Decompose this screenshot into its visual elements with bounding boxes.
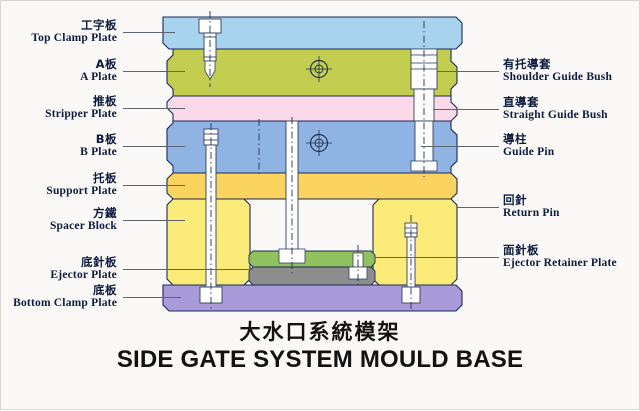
label-return-pin: 回針 Return Pin [503, 194, 560, 220]
leader-b-plate [123, 146, 185, 147]
label-shoulder-guide-bush-en: Shoulder Guide Bush [503, 71, 612, 84]
label-straight-guide-bush-en: Straight Guide Bush [503, 109, 608, 122]
leader-guide-pin [421, 146, 499, 147]
leader-ejector-plate [123, 269, 253, 270]
label-stripper-plate-en: Stripper Plate [45, 108, 117, 121]
label-spacer-block-en: Spacer Block [50, 220, 117, 233]
label-bottom-clamp-plate-cn: 底板 [13, 284, 117, 297]
label-spacer-block: 方鐵 Spacer Block [50, 207, 117, 233]
label-a-plate-cn: A板 [80, 58, 117, 71]
label-shoulder-guide-bush: 有托導套 Shoulder Guide Bush [503, 58, 612, 84]
part-stripper-plate [167, 96, 457, 121]
label-support-plate-cn: 托板 [46, 172, 117, 185]
diagram-canvas: .ol{stroke:#1b2a55;stroke-width:1.1;} .o… [0, 0, 640, 410]
label-return-pin-en: Return Pin [503, 207, 560, 220]
label-ejector-plate-en: Ejector Plate [50, 269, 117, 282]
label-stripper-plate-cn: 推板 [45, 95, 117, 108]
label-straight-guide-bush: 直導套 Straight Guide Bush [503, 96, 608, 122]
leader-support-plate [123, 185, 185, 186]
label-guide-pin-en: Guide Pin [503, 146, 554, 159]
label-shoulder-guide-bush-cn: 有托導套 [503, 58, 612, 71]
leader-bottom-clamp-plate [123, 297, 181, 298]
label-b-plate: B板 B Plate [80, 133, 117, 159]
label-bottom-clamp-plate-en: Bottom Clamp Plate [13, 297, 117, 310]
label-ejector-retainer-plate-en: Ejector Retainer Plate [503, 257, 617, 270]
title-english: SIDE GATE SYSTEM MOULD BASE [1, 346, 639, 374]
leader-return-pin [457, 207, 499, 208]
label-guide-pin-cn: 導柱 [503, 133, 554, 146]
label-top-clamp-plate-en: Top Clamp Plate [31, 32, 117, 45]
leader-a-plate [123, 71, 185, 72]
label-ejector-plate-cn: 底針板 [50, 256, 117, 269]
label-spacer-block-cn: 方鐵 [50, 207, 117, 220]
label-a-plate: A板 A Plate [80, 58, 117, 84]
label-b-plate-cn: B板 [80, 133, 117, 146]
label-support-plate: 托板 Support Plate [46, 172, 117, 198]
leader-top-clamp-plate [123, 32, 175, 33]
label-a-plate-en: A Plate [80, 71, 117, 84]
label-b-plate-en: B Plate [80, 146, 117, 159]
leader-shoulder-guide-bush [437, 71, 499, 72]
label-top-clamp-plate: 工字板 Top Clamp Plate [31, 19, 117, 45]
leader-stripper-plate [123, 108, 185, 109]
leader-ejector-retainer-plate [375, 257, 499, 258]
label-guide-pin: 導柱 Guide Pin [503, 133, 554, 159]
label-ejector-plate: 底針板 Ejector Plate [50, 256, 117, 282]
leader-spacer-block [123, 220, 185, 221]
label-straight-guide-bush-cn: 直導套 [503, 96, 608, 109]
label-ejector-retainer-plate-cn: 面針板 [503, 244, 617, 257]
label-ejector-retainer-plate: 面針板 Ejector Retainer Plate [503, 244, 617, 270]
label-stripper-plate: 推板 Stripper Plate [45, 95, 117, 121]
label-bottom-clamp-plate: 底板 Bottom Clamp Plate [13, 284, 117, 310]
label-support-plate-en: Support Plate [46, 185, 117, 198]
label-return-pin-cn: 回針 [503, 194, 560, 207]
title-chinese: 大水口系統模架 [1, 316, 639, 346]
leader-straight-guide-bush [433, 109, 499, 110]
label-top-clamp-plate-cn: 工字板 [31, 19, 117, 32]
